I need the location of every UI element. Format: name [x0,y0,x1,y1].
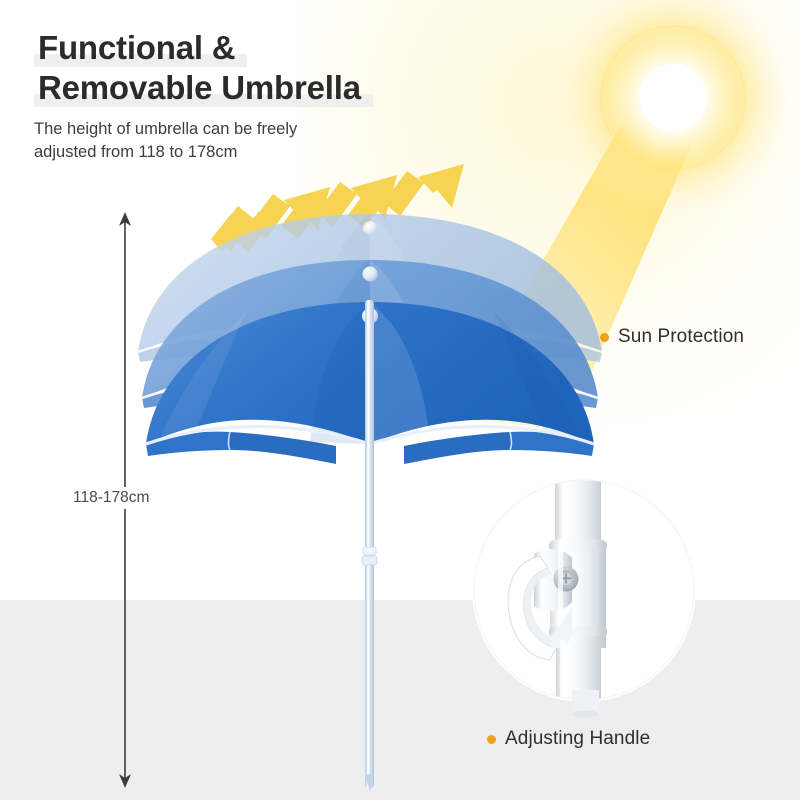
callout-label: Sun Protection [618,326,744,348]
height-dimension-label: 118-178cm [68,487,154,509]
callout-label: Adjusting Handle [505,728,650,750]
bullet-dot-icon [487,735,496,744]
closeup-pole-tail [556,690,616,730]
page-subtitle: The height of umbrella can be freely adj… [34,118,454,164]
bullet-dot-icon [600,333,609,342]
title-line-1: Functional & [34,28,239,68]
page-title: Functional & Removable Umbrella [34,28,554,108]
callout-adjusting-handle: Adjusting Handle [487,728,650,750]
callout-sun-protection: Sun Protection [600,326,744,348]
subtitle-line-2: adjusted from 118 to 178cm [34,141,454,164]
adjusting-handle-closeup [472,478,696,702]
title-line-2: Removable Umbrella [34,68,365,108]
infographic-canvas: 118-178cm [0,0,800,800]
subtitle-line-1: The height of umbrella can be freely [34,118,454,141]
